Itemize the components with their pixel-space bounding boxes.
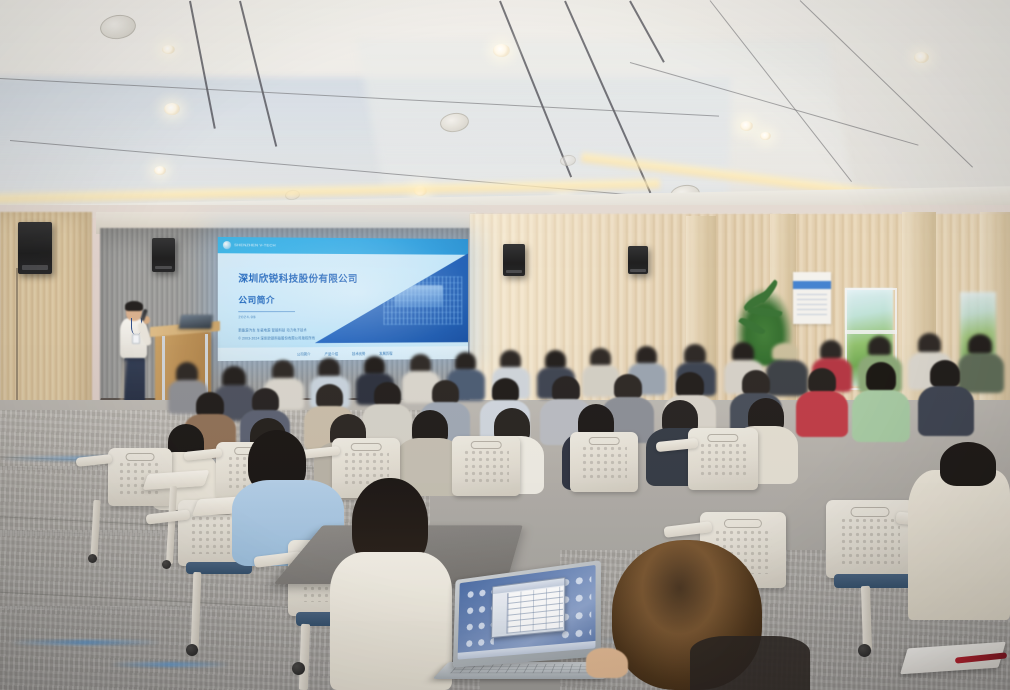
presenter-badge [132, 334, 140, 344]
chair-caster [162, 560, 171, 569]
laptop-display[interactable] [458, 565, 596, 660]
podium-leg [162, 336, 165, 402]
slide-fine-print-line1: 新能源汽车 车载电源 智能科技 动力电子技术 [238, 328, 306, 333]
attendee-body [766, 360, 808, 396]
chair-handle-slot [471, 441, 502, 449]
attendee-head [866, 362, 896, 392]
downlight [154, 166, 166, 175]
poster-header-bar [793, 281, 831, 288]
ceiling-tray-panel-secondary [357, 40, 853, 190]
presenter-hair [125, 301, 143, 311]
laptop-lid [453, 560, 601, 668]
desktop-icons-left[interactable] [463, 583, 495, 651]
presentation-slide: SHENZHEN V-TECH 深圳欣锐科技股份有限公司 公司简介 2024.0… [218, 237, 468, 361]
chair-backrest [452, 436, 520, 496]
chair-caster [186, 644, 198, 656]
slide-footer-item: 发展历程 [379, 350, 392, 355]
attendee-head [940, 442, 996, 486]
slide-footer-item: 产品介绍 [325, 351, 339, 356]
attendee-cap [772, 343, 798, 360]
downlight [914, 52, 929, 63]
attendee-body [918, 386, 974, 436]
hand-on-keyboard [586, 648, 628, 678]
chair-caster [858, 644, 871, 657]
poster-text-lines [797, 294, 827, 315]
chair-backrest [570, 432, 638, 492]
chair-handle-slot [589, 437, 620, 445]
slide-footer-item: 公司简介 [297, 351, 311, 356]
ceiling-speaker [99, 13, 138, 42]
chair-perforation [699, 442, 747, 479]
slide-date: 2024.05 [238, 314, 256, 319]
downlight [493, 44, 510, 57]
slide-triangle-graphic [315, 252, 468, 343]
attendee-body [796, 391, 848, 437]
chair-handle-slot [724, 519, 762, 529]
company-logo-text: SHENZHEN V-TECH [234, 243, 275, 248]
downlight [760, 132, 771, 140]
projection-screen: SHENZHEN V-TECH 深圳欣锐科技股份有限公司 公司简介 2024.0… [218, 237, 468, 361]
podium-laptop [179, 315, 213, 329]
spreadsheet-grid[interactable] [508, 587, 563, 634]
foreground-laptop[interactable] [441, 570, 607, 690]
slide-footer-nav: 公司简介 产品介绍 技术优势 发展历程 [218, 346, 468, 361]
slide-title: 深圳欣锐科技股份有限公司 [238, 271, 357, 285]
wall-speaker-stage-right [503, 244, 525, 276]
attendee-head [930, 360, 960, 388]
window-sidebar[interactable] [494, 593, 508, 635]
chair-perforation [840, 517, 900, 564]
attendee-body-mint [852, 390, 910, 442]
chair-handle-slot [351, 443, 382, 451]
downlight [162, 45, 175, 54]
chair-perforation [463, 449, 509, 485]
chair-seat-cushion [834, 574, 912, 588]
conference-room-photo: SHENZHEN V-TECH 深圳欣锐科技股份有限公司 公司简介 2024.0… [0, 0, 1010, 690]
wall-speaker-right [628, 246, 648, 274]
downlight [164, 103, 180, 115]
chair-handle-slot [851, 507, 890, 517]
foreground-attendee-blouse [330, 552, 452, 690]
carpet-accent-stripe [10, 640, 160, 645]
spreadsheet-window[interactable] [491, 577, 565, 638]
wall-speaker-left [18, 222, 52, 274]
slide-fine-print-line2: © 2003-2024 深圳欣锐科技股份有限公司版权所有 [238, 336, 315, 341]
company-logo-icon [223, 241, 231, 249]
chair-caster [88, 554, 97, 563]
chair-backrest [688, 428, 758, 490]
slide-footer-item: 技术优势 [352, 351, 365, 356]
product-illustration [383, 276, 462, 324]
attendee-body-cream [908, 470, 1010, 620]
chair-handle-slot [707, 434, 738, 442]
slide-subtitle: 公司简介 [238, 294, 275, 306]
chair-perforation [581, 445, 627, 481]
slide-header-bar: SHENZHEN V-TECH [218, 237, 468, 255]
window-mullion [845, 330, 897, 334]
carpet-accent-stripe [110, 662, 230, 667]
chair-caster [292, 662, 305, 675]
wall-speaker-stage-left [152, 238, 175, 272]
downlight [740, 121, 753, 131]
attendee-body [958, 353, 1004, 393]
foreground-woman-body [690, 636, 810, 690]
wall-notice-poster [793, 272, 831, 324]
slide-divider-rule [238, 311, 294, 312]
